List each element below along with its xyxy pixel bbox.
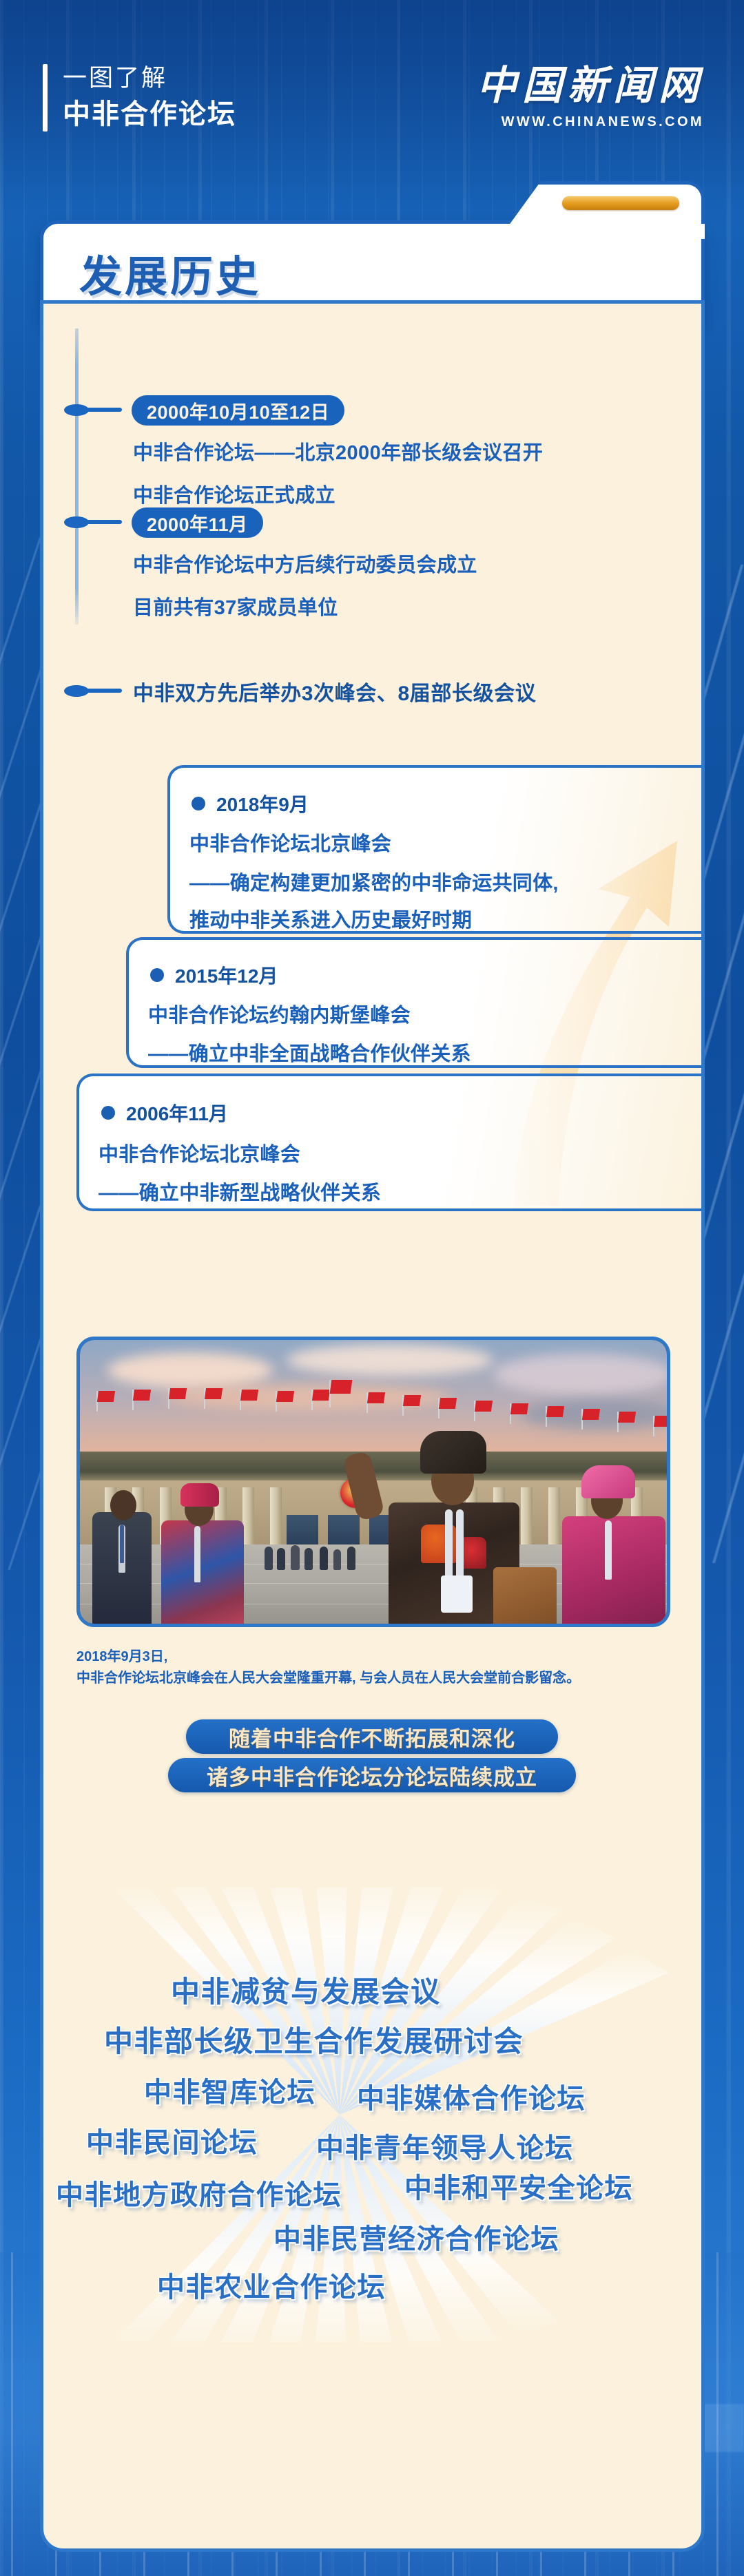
photo-caption-date: 2018年9月3日, bbox=[76, 1646, 683, 1668]
photo-caption: 2018年9月3日, 中非合作论坛北京峰会在人民大会堂隆重开幕, 与会人员在人民… bbox=[76, 1646, 683, 1689]
timeline-axis bbox=[75, 328, 79, 625]
brand-text: 一图了解 中非合作论坛 bbox=[63, 63, 236, 132]
chinanews-logo-chinese: 中国新闻网 bbox=[477, 66, 704, 106]
summit-date-2015: 2015年12月 bbox=[175, 961, 278, 989]
summit-photo bbox=[76, 1337, 670, 1627]
summit-text-2015-1: 中非合作论坛约翰内斯堡峰会 bbox=[148, 999, 411, 1028]
summit-text-2006-2: ——确立中非新型战略伙伴关系 bbox=[99, 1177, 381, 1206]
forum-item-2: 中非部长级卫生合作发展研讨会 bbox=[104, 2018, 524, 2060]
summit-head-2018: 2018年9月 bbox=[192, 790, 309, 817]
timeline-text-2-1: 中非合作论坛中方后续行动委员会成立 bbox=[133, 549, 477, 578]
header-topic: 中非合作论坛 bbox=[63, 96, 236, 132]
chinanews-logo: 中国新闻网 WWW.CHINANEWS.COM bbox=[477, 66, 704, 130]
timeline-node-3 bbox=[64, 685, 89, 697]
summit-text-2015-2: ——确立中非全面战略合作伙伴关系 bbox=[148, 1038, 471, 1067]
summit-text-2018-2: ——确定构建更加紧密的中非命运共同体, bbox=[189, 867, 559, 896]
forum-item-4: 中非媒体合作论坛 bbox=[357, 2076, 586, 2116]
summit-text-2018-3: 推动中非关系进入历史最好时期 bbox=[189, 904, 472, 933]
chinanews-logo-url: WWW.CHINANEWS.COM bbox=[477, 114, 704, 130]
bullet-dot-icon bbox=[150, 968, 164, 982]
page-header: 一图了解 中非合作论坛 中国新闻网 WWW.CHINANEWS.COM bbox=[0, 0, 744, 179]
summit-text-2018-1: 中非合作论坛北京峰会 bbox=[189, 828, 391, 857]
section-title-tab-fill bbox=[505, 224, 705, 239]
summit-head-2015: 2015年12月 bbox=[150, 961, 278, 989]
page-title: 发展历史 bbox=[79, 242, 261, 304]
bullet-dot-icon bbox=[192, 797, 205, 810]
brand-block: 一图了解 中非合作论坛 bbox=[43, 63, 236, 132]
photo-cloud bbox=[493, 1354, 670, 1395]
photo-cloud bbox=[287, 1344, 493, 1376]
summit-date-2018: 2018年9月 bbox=[216, 790, 309, 817]
photo-cloud bbox=[107, 1352, 273, 1388]
timeline-stem-3 bbox=[86, 689, 122, 693]
forum-item-5: 中非民间论坛 bbox=[86, 2120, 258, 2160]
bullet-dot-icon bbox=[101, 1106, 115, 1120]
banner-1: 随着中非合作不断拓展和深化 bbox=[186, 1719, 558, 1754]
summit-text-2006-1: 中非合作论坛北京峰会 bbox=[99, 1138, 300, 1167]
gold-accent-bar bbox=[562, 196, 679, 210]
summit-head-2006: 2006年11月 bbox=[101, 1099, 228, 1127]
banner-2: 诸多中非合作论坛分论坛陆续成立 bbox=[168, 1758, 576, 1792]
forum-item-1: 中非减贫与发展会议 bbox=[171, 1969, 441, 2011]
timeline-text-1-2: 中非合作论坛正式成立 bbox=[133, 479, 335, 508]
photo-caption-text: 中非合作论坛北京峰会在人民大会堂隆重开幕, 与会人员在人民大会堂前合影留念。 bbox=[76, 1668, 683, 1689]
timeline-text-1-1: 中非合作论坛——北京2000年部长级会议召开 bbox=[133, 437, 543, 465]
timeline-stem-1 bbox=[86, 408, 122, 412]
timeline-node-2 bbox=[64, 516, 89, 528]
timeline-date-1: 2000年10月10至12日 bbox=[132, 395, 344, 426]
forum-item-7: 中非地方政府合作论坛 bbox=[56, 2172, 342, 2212]
forum-item-6: 中非青年领导人论坛 bbox=[316, 2126, 574, 2166]
forum-item-3: 中非智库论坛 bbox=[144, 2070, 316, 2110]
timeline-text-2-2: 目前共有37家成员单位 bbox=[133, 591, 338, 620]
timeline-stem-2 bbox=[86, 520, 122, 524]
timeline-node-1 bbox=[64, 404, 89, 416]
content-panel: 2000年10月10至12日 中非合作论坛——北京2000年部长级会议召开 中非… bbox=[40, 300, 705, 2552]
header-kicker: 一图了解 bbox=[63, 63, 236, 94]
forum-item-9: 中非民营经济合作论坛 bbox=[273, 2217, 559, 2256]
forum-item-10: 中非农业合作论坛 bbox=[157, 2265, 386, 2305]
forum-item-8: 中非和平安全论坛 bbox=[404, 2166, 633, 2206]
timeline-date-2: 2000年11月 bbox=[132, 507, 263, 538]
brand-rule-divider bbox=[43, 64, 48, 132]
timeline-summary: 中非双方先后举办3次峰会、8届部长级会议 bbox=[133, 676, 536, 706]
summit-date-2006: 2006年11月 bbox=[126, 1099, 228, 1127]
